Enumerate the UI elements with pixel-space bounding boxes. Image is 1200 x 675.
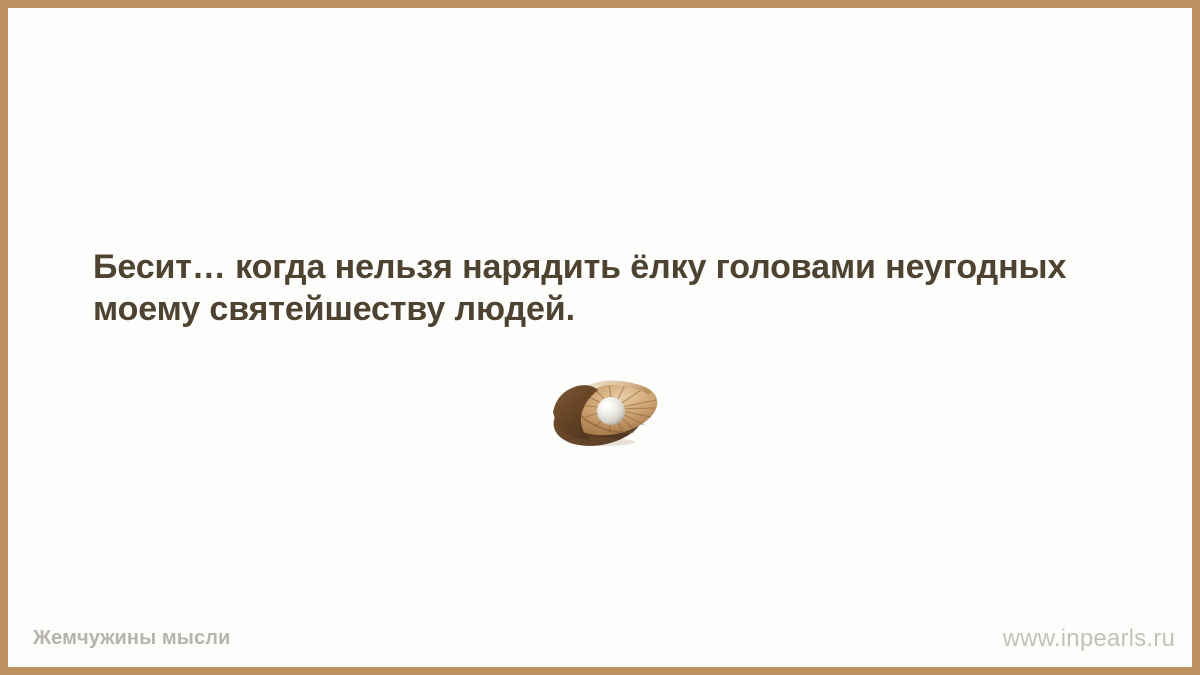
pearl — [597, 397, 625, 425]
quote-text: Бесит… когда нельзя нарядить ёлку голова… — [93, 246, 1125, 330]
oyster-shell-with-pearl-icon — [543, 372, 673, 452]
site-brand-label: Жемчужины мысли — [33, 627, 230, 650]
shell-shadow — [567, 438, 635, 446]
site-url-label: www.inpearls.ru — [1003, 625, 1175, 653]
quote-card: Бесит… когда нельзя нарядить ёлку голова… — [0, 0, 1200, 675]
